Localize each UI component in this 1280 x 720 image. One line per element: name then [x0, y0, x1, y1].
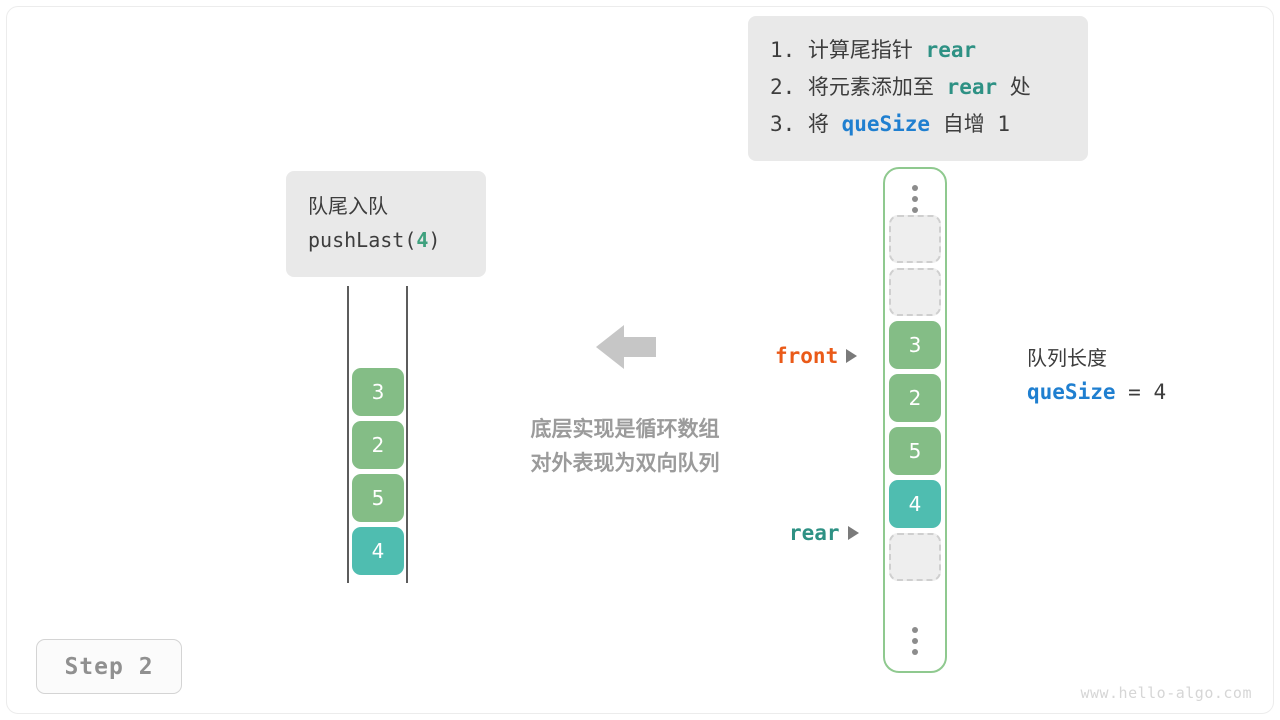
array-empty-cell — [889, 268, 941, 316]
step-line-3-prefix: 3. 将 — [770, 112, 842, 136]
step-line-2: 2. 将元素添加至 rear 处 — [770, 69, 1066, 106]
deque-abstract-view: 3254 — [347, 286, 408, 583]
explanation-caption-line1: 底层实现是循环数组 — [503, 412, 747, 446]
queue-size-expression: queSize = 4 — [1027, 374, 1166, 410]
queue-size-var: queSize — [1027, 380, 1116, 404]
explanation-caption-line2: 对外表现为双向队列 — [503, 446, 747, 480]
step-line-2-suffix: 处 — [997, 75, 1031, 99]
step-line-3-suffix: 自增 1 — [930, 112, 1010, 136]
step-line-3-code: queSize — [842, 112, 931, 136]
deque-cell: 5 — [352, 474, 404, 522]
queue-size-title: 队列长度 — [1027, 342, 1166, 374]
step-line-1-prefix: 1. 计算尾指针 — [770, 38, 926, 62]
circular-array-container: 3254 — [883, 167, 947, 673]
ellipsis-bottom-icon — [912, 627, 918, 655]
front-pointer-label: front — [775, 344, 857, 368]
step-line-1: 1. 计算尾指针 rear — [770, 32, 1066, 69]
array-empty-cell — [889, 215, 941, 263]
operation-box: 队尾入队 pushLast(4) — [286, 171, 486, 277]
array-cell: 2 — [889, 374, 941, 422]
circular-array-cell-list: 3254 — [889, 215, 941, 581]
deque-cell-list: 3254 — [352, 368, 404, 575]
deque-rail-left — [347, 286, 349, 583]
explanation-caption: 底层实现是循环数组 对外表现为双向队列 — [503, 412, 747, 480]
step-badge: Step 2 — [36, 639, 182, 694]
algorithm-steps-box: 1. 计算尾指针 rear 2. 将元素添加至 rear 处 3. 将 queS… — [748, 16, 1088, 161]
array-cell: 5 — [889, 427, 941, 475]
ellipsis-top-icon — [912, 185, 918, 213]
flow-arrow-left-icon — [596, 322, 656, 372]
operation-code-arg: 4 — [416, 228, 428, 252]
deque-cell: 3 — [352, 368, 404, 416]
step-badge-label: Step 2 — [64, 654, 153, 680]
queue-size-caption: 队列长度 queSize = 4 — [1027, 342, 1166, 410]
operation-code-suffix: ) — [428, 228, 440, 252]
deque-cell: 2 — [352, 421, 404, 469]
deque-rail-right — [406, 286, 408, 583]
array-empty-cell — [889, 533, 941, 581]
rear-arrow-icon — [848, 526, 859, 540]
step-line-2-prefix: 2. 将元素添加至 — [770, 75, 947, 99]
rear-pointer-text: rear — [789, 521, 840, 545]
step-line-2-code: rear — [947, 75, 998, 99]
deque-cell: 4 — [352, 527, 404, 575]
diagram-canvas: 1. 计算尾指针 rear 2. 将元素添加至 rear 处 3. 将 queS… — [0, 0, 1280, 720]
queue-size-value: 4 — [1153, 380, 1166, 404]
rear-pointer-label: rear — [789, 521, 859, 545]
watermark: www.hello-algo.com — [1080, 684, 1252, 702]
step-line-1-code: rear — [926, 38, 977, 62]
step-line-3: 3. 将 queSize 自增 1 — [770, 106, 1066, 143]
front-arrow-icon — [846, 349, 857, 363]
operation-code-prefix: pushLast( — [308, 228, 416, 252]
array-cell: 4 — [889, 480, 941, 528]
queue-size-equals: = — [1116, 380, 1154, 404]
array-cell: 3 — [889, 321, 941, 369]
front-pointer-text: front — [775, 344, 838, 368]
operation-title: 队尾入队 — [308, 189, 464, 223]
operation-code: pushLast(4) — [308, 223, 464, 257]
